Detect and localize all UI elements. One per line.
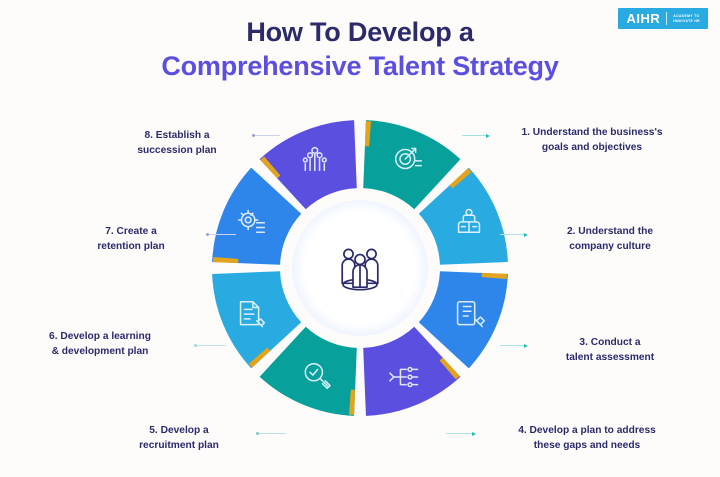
step-label-6: 6. Develop a learning & development plan: [14, 330, 186, 360]
connector-4: [446, 430, 476, 437]
step-label-3: 3. Conduct a talent assessment: [520, 336, 700, 366]
connector-7: [206, 231, 236, 238]
step-label-4: 4. Develop a plan to address these gaps …: [474, 424, 700, 454]
page-title: How To Develop a Comprehensive Talent St…: [0, 16, 720, 84]
connector-2: [500, 231, 528, 238]
connector-1: [462, 132, 490, 139]
group-of-people-icon: [330, 238, 390, 298]
step-label-8: 8. Establish a succession plan: [108, 129, 246, 159]
connector-5: [256, 430, 286, 437]
step-label-7: 7. Create a retention plan: [62, 225, 200, 255]
step-label-5: 5. Develop a recruitment plan: [104, 424, 254, 454]
step-label-1: 1. Understand the business's goals and o…: [482, 126, 702, 156]
connector-8: [252, 132, 280, 139]
title-line-1: How To Develop a: [0, 16, 720, 50]
title-line-2: Comprehensive Talent Strategy: [0, 50, 720, 84]
talent-strategy-wheel: [210, 118, 510, 418]
step-label-2: 2. Understand the company culture: [520, 225, 700, 255]
connector-3: [500, 342, 528, 349]
connector-6: [194, 342, 226, 349]
